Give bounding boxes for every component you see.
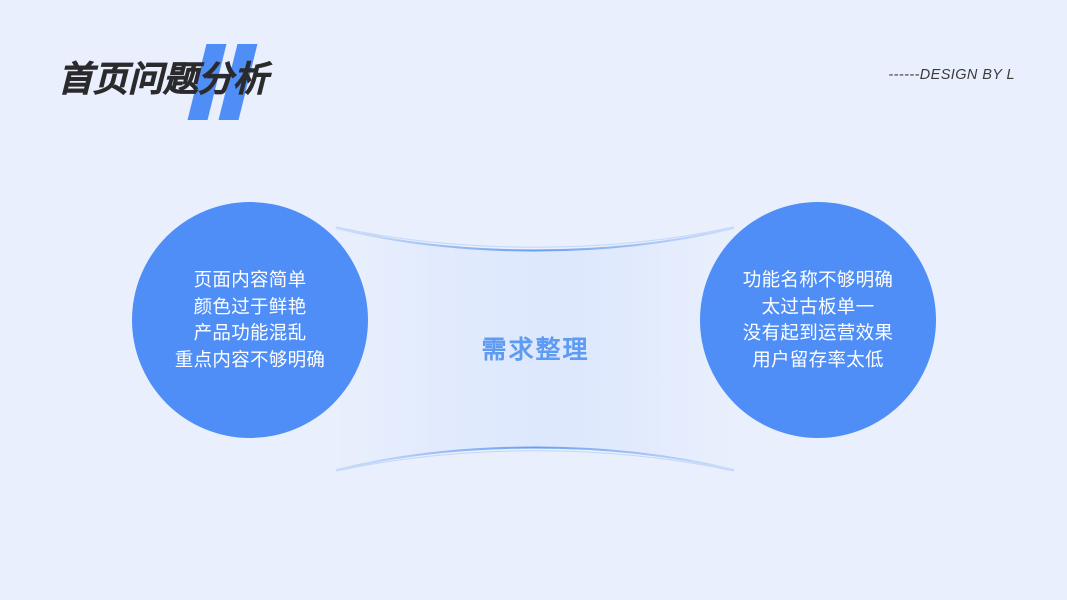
problem-bubble-right[interactable]: 功能名称不够明确 太过古板单一 没有起到运营效果 用户留存率太低 bbox=[700, 202, 936, 438]
title-block: 首页问题分析 bbox=[58, 42, 318, 122]
bubble-right-line: 功能名称不够明确 bbox=[743, 267, 893, 294]
bubble-right-line: 没有起到运营效果 bbox=[743, 320, 893, 347]
diagram-area: 页面内容简单 颜色过于鲜艳 产品功能混乱 重点内容不够明确 功能名称不够明确 太… bbox=[0, 140, 1067, 560]
bubble-right-line: 用户留存率太低 bbox=[752, 347, 884, 374]
problem-bubble-left[interactable]: 页面内容简单 颜色过于鲜艳 产品功能混乱 重点内容不够明确 bbox=[132, 202, 368, 438]
bubble-left-line: 重点内容不够明确 bbox=[175, 347, 325, 374]
page-title: 首页问题分析 bbox=[58, 56, 268, 104]
slide-canvas: 首页问题分析 ------DESIGN BY L bbox=[0, 0, 1067, 600]
slide-header: 首页问题分析 ------DESIGN BY L bbox=[0, 0, 1067, 130]
bubble-left-line: 页面内容简单 bbox=[194, 267, 307, 294]
design-credit-label: ------DESIGN BY L bbox=[888, 67, 1015, 83]
bubble-left-line: 产品功能混乱 bbox=[194, 320, 307, 347]
bubble-left-line: 颜色过于鲜艳 bbox=[194, 294, 307, 321]
bubble-right-line: 太过古板单一 bbox=[762, 294, 875, 321]
